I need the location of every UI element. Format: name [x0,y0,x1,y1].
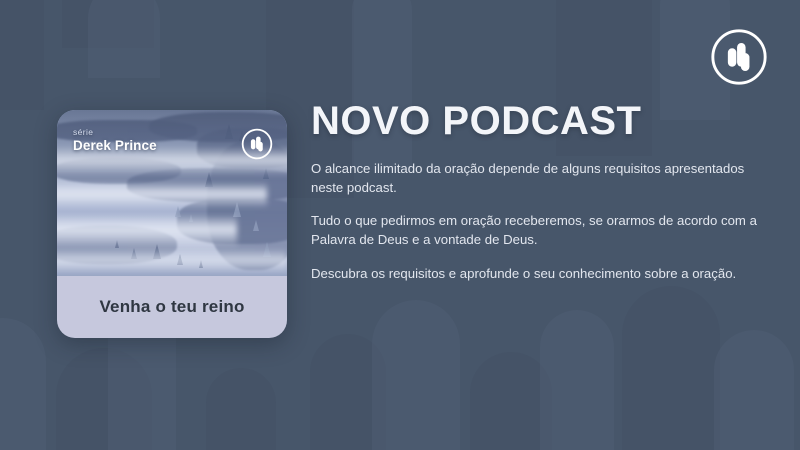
promo-paragraph-2: Tudo o que pedirmos em oração receberemo… [311,211,763,249]
promo-paragraph-3: Descubra os requisitos e aprofunde o seu… [311,264,763,283]
promo-paragraph-1: O alcance ilimitado da oração depende de… [311,159,763,197]
podcast-bars-circle-icon [708,26,770,88]
cover-episode-title: Venha o teu reino [99,297,244,317]
cover-title-band: Venha o teu reino [57,276,287,338]
podcast-bars-circle-icon [240,127,274,161]
promo-text-content: NOVO PODCAST O alcance ilimitado da oraç… [311,100,771,283]
podcast-cover-card[interactable]: série Derek Prince Venha o teu reino [57,110,287,338]
promo-banner: série Derek Prince Venha o teu reino NOV… [0,0,800,450]
cover-series-meta: série Derek Prince [73,128,157,153]
page-title: NOVO PODCAST [311,100,771,142]
cover-series-label: série [73,128,157,137]
cover-series-name: Derek Prince [73,138,157,153]
